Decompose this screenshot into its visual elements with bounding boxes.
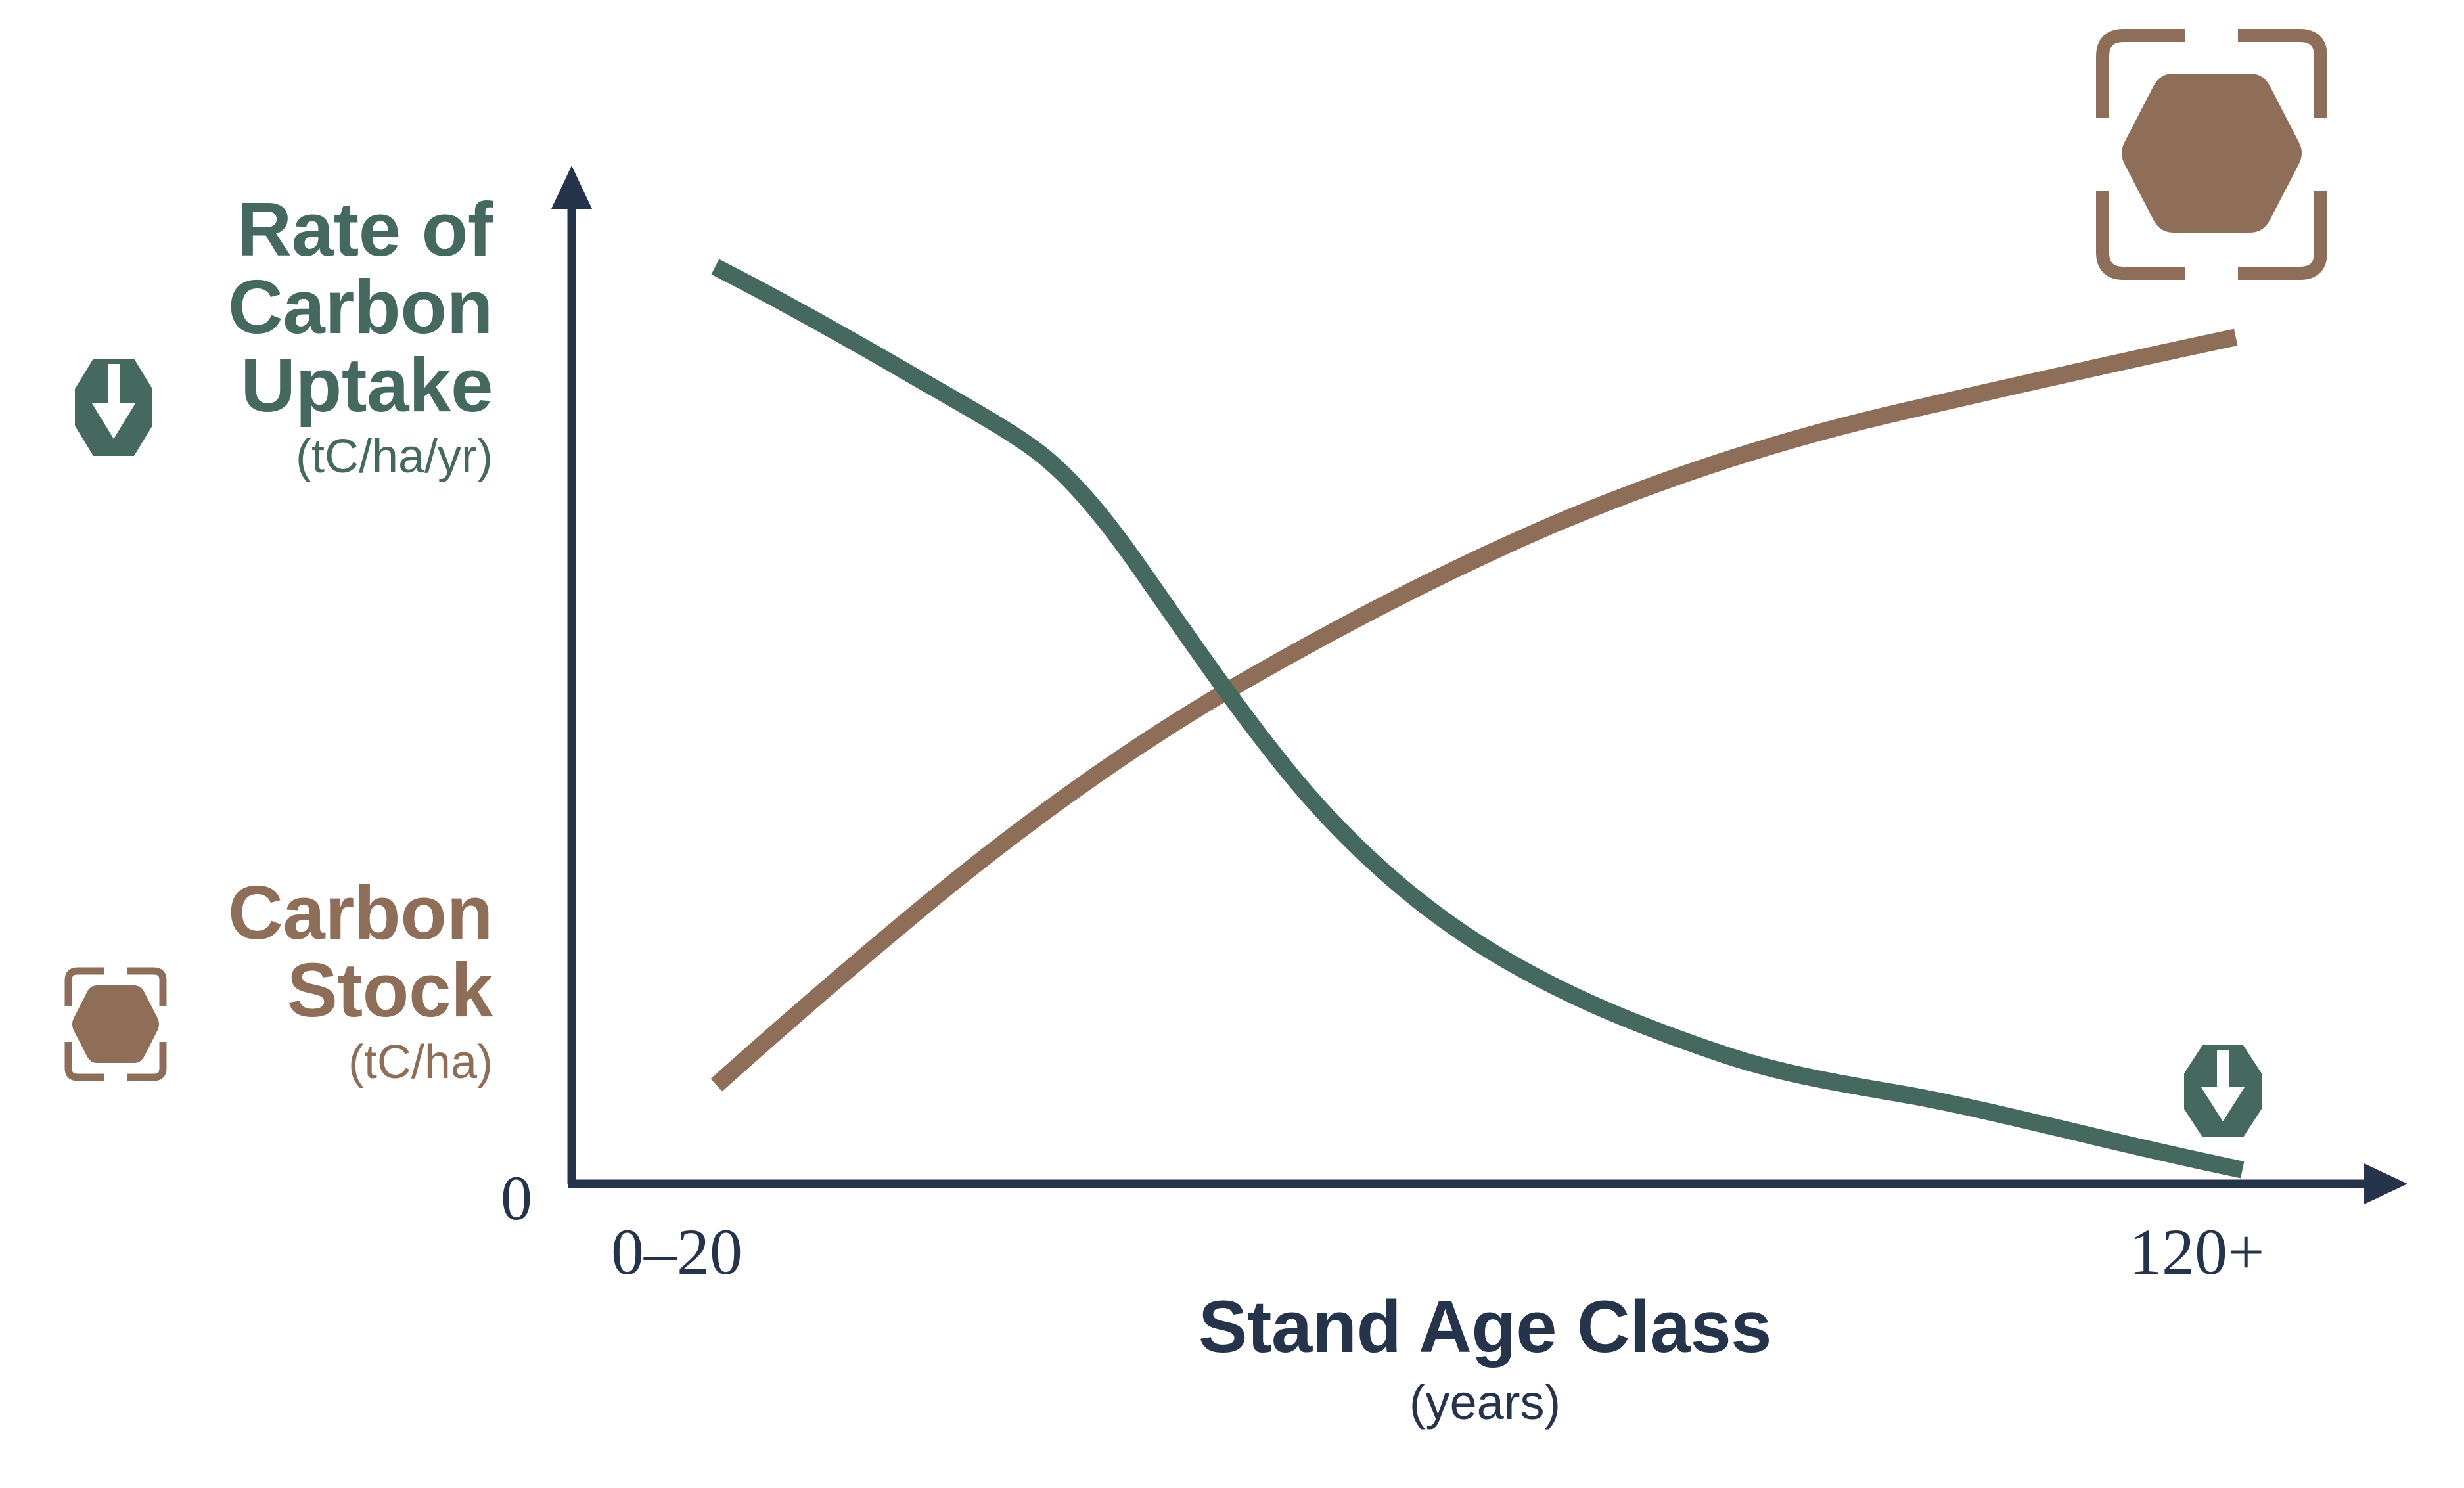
legend-stock-line1: Carbon — [118, 874, 493, 951]
legend-uptake-unit: (tC/ha/yr) — [118, 433, 493, 481]
x-axis-title: Stand Age Class — [1025, 1284, 1945, 1369]
legend-uptake-line2: Carbon — [118, 268, 493, 346]
hexagon-down-arrow-icon — [2180, 1042, 2266, 1140]
legend-item-carbon-stock: Carbon Stock (tC/ha) — [118, 874, 493, 1087]
y-axis-origin-label: 0 — [501, 1161, 532, 1234]
legend-uptake-line3: Uptake — [118, 346, 493, 424]
legend-item-rate-of-carbon-uptake: Rate of Carbon Uptake (tC/ha/yr) — [118, 191, 493, 481]
legend-uptake-line1: Rate of — [118, 191, 493, 268]
hexagon-in-brackets-icon — [2093, 26, 2330, 282]
x-axis-title-block: Stand Age Class (years) — [1025, 1284, 1945, 1430]
x-axis — [568, 1163, 2407, 1204]
series-carbon-stock-line — [723, 339, 2227, 1079]
x-axis-tick-last: 120+ — [2129, 1214, 2264, 1290]
y-axis — [551, 166, 592, 1184]
legend-stock-line2: Stock — [118, 951, 493, 1029]
x-axis-tick-first: 0–20 — [611, 1214, 742, 1290]
x-axis-unit: (years) — [1025, 1374, 1945, 1430]
chart-canvas: Rate of Carbon Uptake (tC/ha/yr) Carbon … — [0, 0, 2464, 1488]
legend-stock-unit: (tC/ha) — [118, 1039, 493, 1087]
series-rate-of-carbon-uptake-line — [723, 271, 2234, 1168]
